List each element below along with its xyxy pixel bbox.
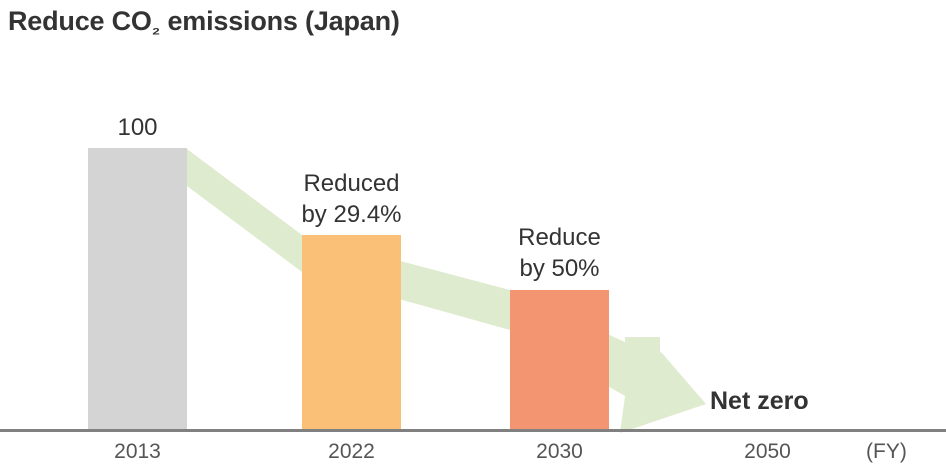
net-zero-label: Net zero — [710, 387, 809, 416]
x-axis-unit-label: (FY) — [866, 440, 938, 464]
bar-label-2030: Reduce by 50% — [479, 222, 640, 284]
bar-2022 — [302, 235, 401, 431]
x-tick-2013: 2013 — [88, 440, 187, 464]
x-tick-2050: 2050 — [718, 440, 817, 464]
bar-2013 — [88, 148, 187, 431]
bar-2030 — [510, 290, 609, 431]
bar-label-2013: 100 — [88, 112, 187, 143]
bar-label-2022: Reduced by 29.4% — [271, 168, 432, 230]
x-tick-2022: 2022 — [302, 440, 401, 464]
x-tick-2030: 2030 — [510, 440, 609, 464]
plot-area: 100 Reduced by 29.4% Reduce by 50% Net z… — [0, 0, 946, 474]
x-axis-line — [0, 429, 946, 432]
chart-container: Reduce CO₂ emissions (Japan) 100 Reduced… — [0, 0, 946, 474]
